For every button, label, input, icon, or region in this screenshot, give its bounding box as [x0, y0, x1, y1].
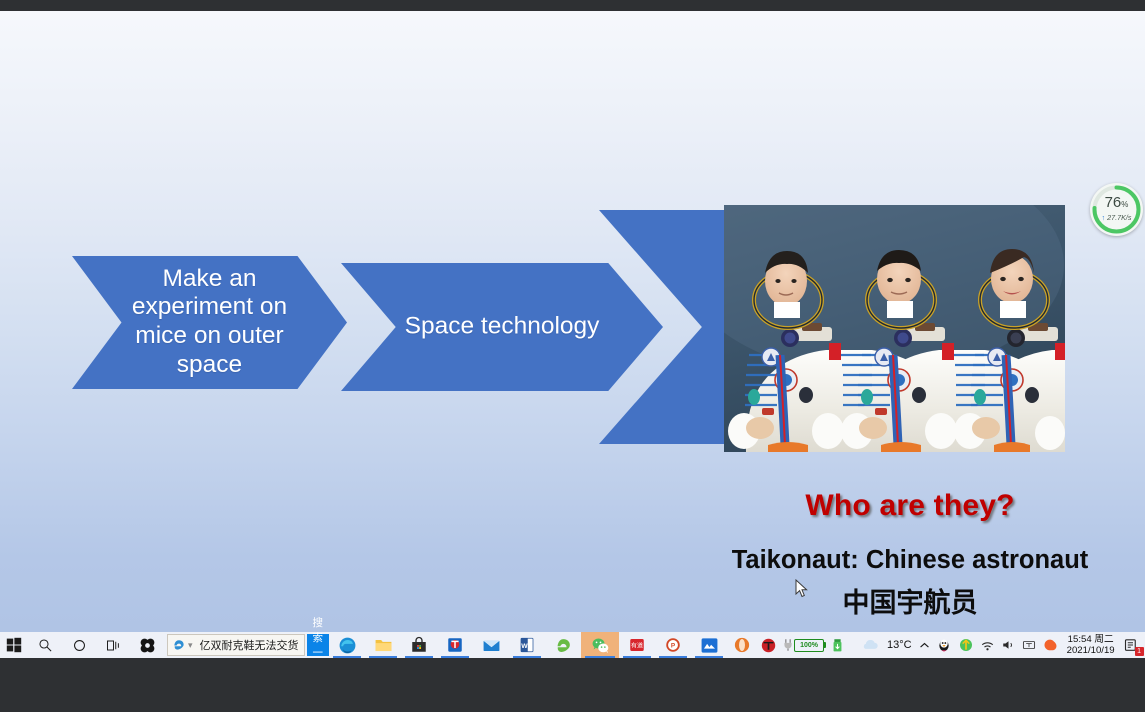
mail-icon [482, 636, 501, 655]
microsoft-store-icon [410, 636, 428, 654]
tray-weather[interactable] [846, 632, 883, 658]
cloud-icon [860, 638, 880, 652]
search-dropdown-caret[interactable]: ▾ [186, 640, 195, 651]
taskbar-app-mail[interactable] [473, 632, 509, 658]
cortana-button[interactable] [62, 632, 96, 658]
windows-logo-icon [1, 637, 27, 653]
microsoft-word-icon: W [518, 636, 536, 654]
taskbar-app-file-explorer[interactable] [365, 632, 401, 658]
clock-date: 2021/10/19 [1067, 645, 1115, 656]
presentation-slide[interactable]: Make an experiment on mice on outer spac… [0, 11, 1145, 632]
task-view-button[interactable] [96, 632, 130, 658]
ime-icon [1022, 639, 1036, 651]
taskbar-app-powerpoint[interactable]: P [655, 632, 691, 658]
answer-chinese: 中国宇航员 [690, 581, 1130, 620]
sogou-icon [1042, 637, 1058, 653]
taskbar-app-wechat[interactable] [581, 632, 619, 658]
taskbar-app-thunder-download[interactable] [437, 632, 473, 658]
tray-tesla[interactable] [757, 632, 780, 658]
sogou-input-button[interactable] [130, 632, 164, 658]
notification-center-button[interactable]: 1 [1121, 632, 1145, 658]
task-view-icon [106, 638, 121, 653]
thunder-download-icon [446, 636, 464, 654]
microsoft-edge-icon [338, 636, 357, 655]
astronauts-photo [724, 205, 1065, 452]
mouse-cursor [795, 579, 808, 598]
screen: Make an experiment on mice on outer spac… [0, 0, 1145, 712]
usb-drive-icon [832, 638, 843, 653]
taskbar-app-microsoft-store[interactable] [401, 632, 437, 658]
tray-360-safe[interactable] [955, 632, 977, 658]
battery-level-indicator: 100% [794, 639, 824, 652]
file-explorer-icon [374, 636, 393, 655]
windows-taskbar[interactable]: ▾ 亿双耐克鞋无法交货 搜索一下 [0, 632, 1145, 658]
answer-english: Taikonaut: Chinese astronaut [690, 546, 1130, 575]
process-chevron-2: Space technology [341, 263, 663, 391]
start-button[interactable] [0, 632, 28, 658]
wechat-icon [591, 636, 610, 655]
search-button[interactable] [28, 632, 62, 658]
tesla-icon [760, 637, 777, 654]
svg-text:有道: 有道 [631, 641, 643, 649]
search-icon [38, 638, 53, 653]
ie-search-box[interactable]: ▾ 亿双耐克鞋无法交货 [167, 634, 305, 656]
weather-temperature[interactable]: 13°C [883, 639, 916, 651]
process-chevron-2-label: Space technology [341, 313, 663, 342]
top-dark-strip [0, 0, 1145, 11]
battery-tip [824, 642, 826, 648]
clock-time: 15:54 周二 [1067, 634, 1115, 645]
page-title-question: Who are they? [700, 489, 1120, 523]
wifi-icon [980, 639, 995, 652]
youdao-dictionary-icon: 有道 [628, 636, 646, 654]
svg-text:P: P [671, 643, 676, 650]
chevron-up-icon [919, 640, 930, 651]
taskbar-app-microsoft-edge[interactable] [329, 632, 365, 658]
taskbar-app-word[interactable]: W [509, 632, 545, 658]
circle-icon [72, 638, 87, 653]
tray-volume[interactable] [998, 632, 1019, 658]
internet-explorer-icon [172, 638, 186, 652]
taskbar-clock[interactable]: 15:54 周二 2021/10/19 [1061, 634, 1121, 657]
taskbar-app-mountain[interactable] [691, 632, 727, 658]
svg-text:W: W [521, 643, 528, 650]
tray-wifi[interactable] [977, 632, 998, 658]
plug-icon [783, 638, 793, 652]
qq-icon [936, 637, 952, 653]
internet-explorer-icon [554, 636, 573, 655]
tray-sogou-pinyin[interactable] [1039, 632, 1061, 658]
taskbar-app-opera[interactable] [727, 632, 757, 658]
safe-icon [958, 637, 974, 653]
taskbar-app-youdao[interactable]: 有道 [619, 632, 655, 658]
taskbar-app-internet-explorer[interactable] [545, 632, 581, 658]
network-speed-badge[interactable]: 76% ↑ 27.7K/s [1090, 183, 1143, 236]
notification-count-badge: 1 [1135, 647, 1144, 656]
tray-qq[interactable] [933, 632, 955, 658]
process-chevron-1: Make an experiment on mice on outer spac… [72, 256, 347, 389]
tray-usb[interactable] [829, 632, 846, 658]
search-query-text[interactable]: 亿双耐克鞋无法交货 [195, 637, 304, 653]
pinwheel-icon [139, 637, 156, 654]
tray-ime[interactable] [1019, 632, 1039, 658]
bottom-dark-area [0, 658, 1145, 712]
speaker-icon [1001, 639, 1016, 651]
speed-badge-rate: ↑ 27.7K/s [1090, 213, 1143, 222]
speed-badge-percent: 76% [1090, 195, 1143, 210]
process-chevron-1-label: Make an experiment on mice on outer spac… [72, 265, 347, 381]
tray-battery[interactable]: 100% [780, 632, 829, 658]
powerpoint-icon: P [664, 636, 682, 654]
system-tray[interactable]: 100% 13°C [757, 632, 1145, 658]
mountain-app-icon [700, 636, 719, 655]
search-submit-button[interactable]: 搜索一下 [307, 634, 330, 656]
tray-show-hidden-icons[interactable] [916, 632, 933, 658]
opera-icon [733, 636, 751, 654]
